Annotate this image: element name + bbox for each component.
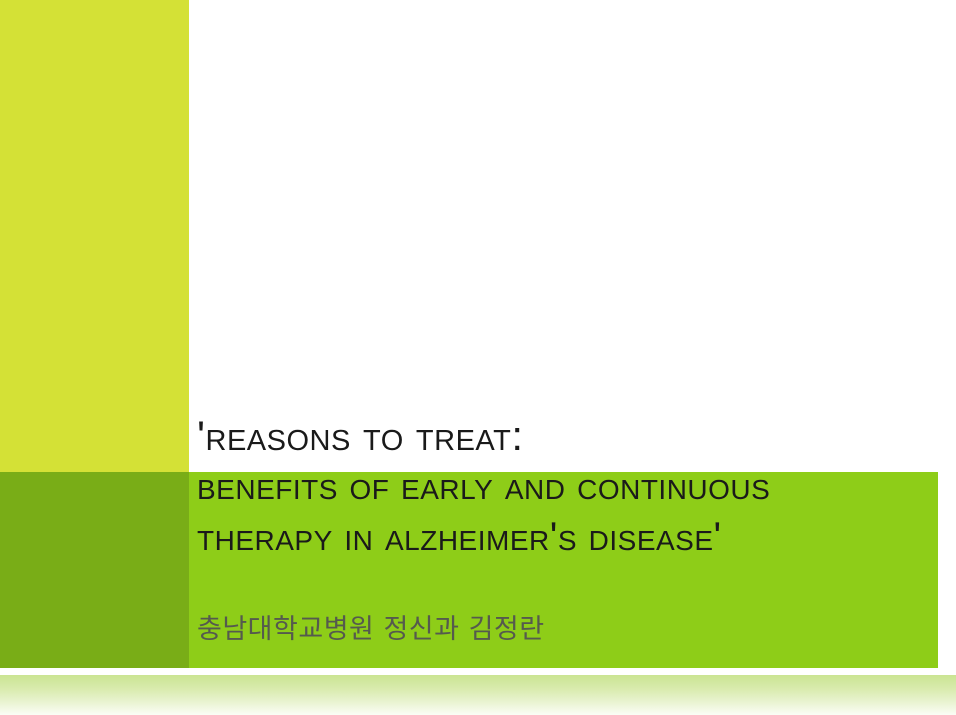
decor-block-dark-green-left [0,472,189,668]
title-line-2: Benefits of Early and Continuous [189,461,949,512]
presentation-slide: 'Reasons to Treat: Benefits of Early and… [0,0,956,715]
title-line-1: 'Reasons to Treat: [189,410,949,461]
title-block: 'Reasons to Treat: Benefits of Early and… [189,410,949,563]
decor-block-yellow-left [0,0,189,472]
decor-bottom-gradient-bar [0,675,956,715]
title-line-3: Therapy in Alzheimer's disease' [189,512,949,563]
subtitle-author-affiliation: 충남대학교병원 정신과 김정란 [197,613,545,647]
